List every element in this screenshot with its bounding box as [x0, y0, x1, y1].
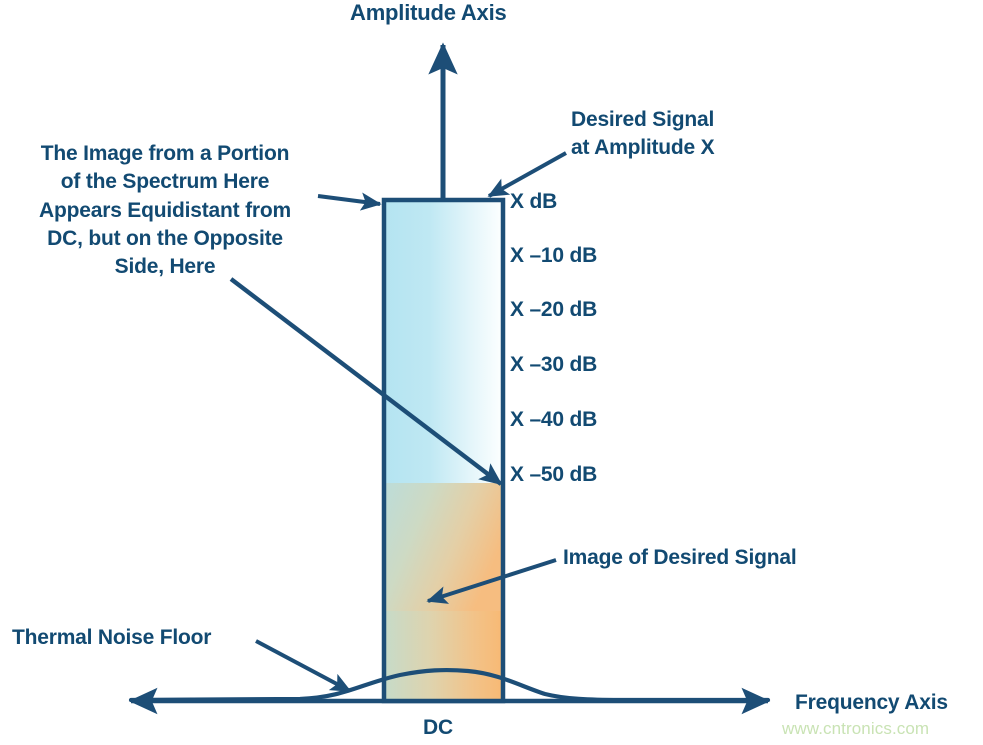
scale-label-0: X dB: [510, 190, 557, 215]
scale-label-3: X –30 dB: [510, 353, 597, 378]
leader-left-block-top: [318, 196, 380, 204]
image-of-desired-signal-annotation: Image of Desired Signal: [563, 546, 796, 571]
amplitude-axis-label: Amplitude Axis: [350, 0, 507, 26]
scale-label-5: X –50 dB: [510, 463, 597, 488]
scale-label-2: X –20 dB: [510, 298, 597, 323]
diagram-canvas: Amplitude Axis Frequency Axis DC Desired…: [0, 0, 983, 745]
spectrum-bar-lower-deep: [384, 611, 503, 701]
watermark: www.cntronics.com: [782, 719, 929, 739]
scale-label-4: X –40 dB: [510, 408, 597, 433]
thermal-noise-floor-annotation: Thermal Noise Floor: [12, 626, 211, 651]
desired-signal-annotation: Desired Signal at Amplitude X: [571, 106, 714, 161]
scale-label-1: X –10 dB: [510, 244, 597, 269]
spectrum-bar-lower: [384, 483, 503, 611]
spectrum-image-annotation: The Image from a Portion of the Spectrum…: [5, 140, 325, 282]
dc-origin-label: DC: [423, 716, 453, 741]
frequency-axis-label: Frequency Axis: [795, 691, 948, 716]
leader-thermal-noise-floor: [256, 641, 350, 691]
